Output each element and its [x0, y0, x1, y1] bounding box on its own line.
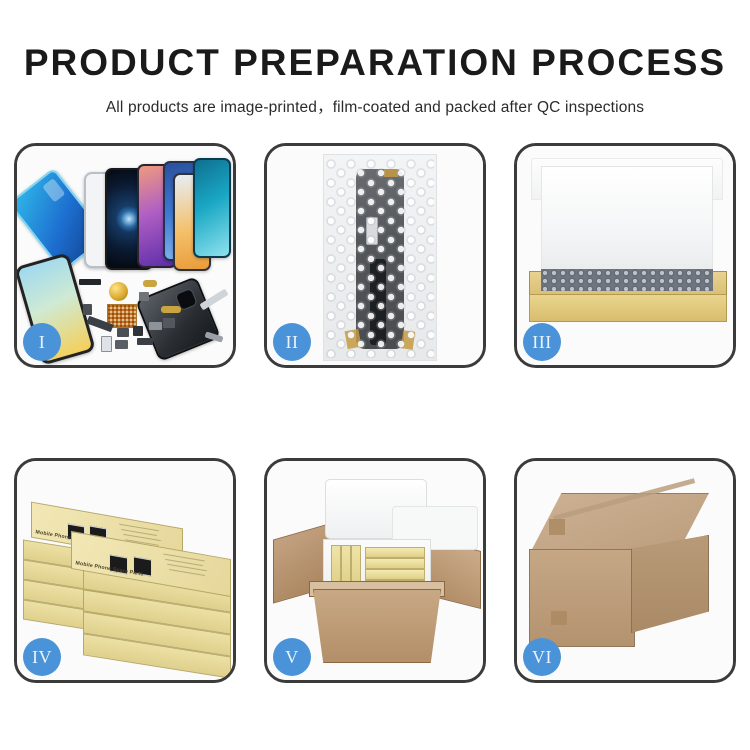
step-4-image: Mobile Phone Spare Parts Mobile Phone Sp…	[17, 461, 233, 680]
bubble-wrap-fill	[541, 269, 713, 291]
spare-part	[137, 338, 153, 345]
spare-part	[79, 279, 101, 285]
box-lid	[541, 166, 713, 278]
step-1-image: I	[17, 146, 233, 365]
process-step-grid: I II III	[14, 143, 736, 683]
spare-part	[139, 292, 149, 301]
page-header: PRODUCT PREPARATION PROCESS All products…	[0, 0, 750, 117]
step-panel-4: Mobile Phone Spare Parts Mobile Phone Sp…	[14, 458, 236, 683]
step-3-image: III	[517, 146, 733, 365]
gold-component-icon	[109, 282, 128, 301]
step-badge-6: VI	[523, 638, 561, 676]
step-panel-3: III	[514, 143, 736, 368]
page-title: PRODUCT PREPARATION PROCESS	[0, 0, 750, 83]
carton-tab	[551, 611, 567, 625]
spare-part	[149, 322, 162, 330]
step-5-image: V	[267, 461, 483, 680]
step-panel-6: VI	[514, 458, 736, 683]
phone-rear-housing	[135, 276, 221, 362]
phone-teal-display	[193, 158, 231, 258]
step-badge-5: V	[273, 638, 311, 676]
step-badge-4: IV	[23, 638, 61, 676]
spare-part	[101, 336, 112, 352]
bubble-texture	[326, 159, 434, 358]
spare-part	[161, 306, 181, 313]
step-badge-2: II	[273, 323, 311, 361]
gold-pack	[365, 558, 425, 569]
step-panel-5: V	[264, 458, 486, 683]
bubble-wrap-bag	[323, 154, 437, 361]
carton-tab	[549, 519, 565, 535]
step-badge-3: III	[523, 323, 561, 361]
page-subtitle: All products are image-printed，film-coat…	[0, 83, 750, 117]
step-6-image: VI	[517, 461, 733, 680]
step-2-image: II	[267, 146, 483, 365]
gold-pack	[365, 569, 425, 580]
gold-pack	[365, 547, 425, 558]
step-panel-2: II	[264, 143, 486, 368]
kraft-box-front	[529, 294, 727, 322]
carton-front-face	[529, 549, 635, 647]
spare-part	[117, 328, 129, 337]
step-badge-1: I	[23, 323, 61, 361]
spare-part	[115, 340, 128, 349]
shipping-carton	[313, 589, 441, 663]
spare-part	[143, 280, 157, 287]
retail-box-stack: Mobile Phone Spare Parts Mobile Phone Sp…	[23, 483, 233, 663]
step-panel-1: I	[14, 143, 236, 368]
spare-part	[163, 318, 175, 328]
spare-part	[83, 304, 92, 315]
carton-side-face	[631, 535, 709, 633]
spare-part	[133, 326, 143, 336]
foam-box-lid	[325, 479, 427, 539]
